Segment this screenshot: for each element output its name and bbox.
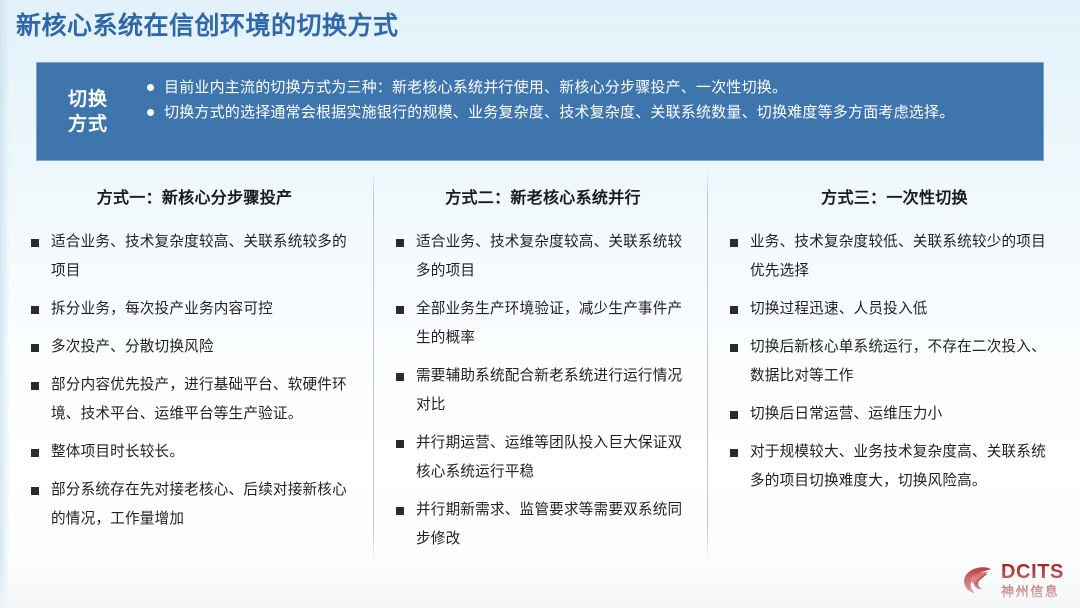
list-item-text: 切换后日常运营、运维压力小 — [750, 406, 942, 422]
callout-item: 切换方式的选择通常会根据实施银行的规模、业务复杂度、技术复杂度、关联系统数量、切… — [145, 100, 1029, 125]
column-method-one: 方式一：新核心分步骤投产 适合业务、技术复杂度较高、关联系统较多的项目 拆分业务… — [0, 172, 373, 564]
bullet-square-icon — [31, 306, 39, 314]
bullet-list: 适合业务、技术复杂度较高、关联系统较多的项目 拆分业务，每次投产业务内容可控 多… — [30, 228, 351, 534]
logo-text-en: DCITS — [1001, 562, 1064, 582]
bullet-square-icon — [396, 306, 404, 314]
slide-root: 新核心系统在信创环境的切换方式 切换 方式 目前业内主流的切换方式为三种：新老核… — [0, 0, 1080, 608]
column-method-two: 方式二：新老核心系统并行 适合业务、技术复杂度较高、关联系统较多的项目 全部业务… — [373, 172, 707, 564]
callout-item-text: 切换方式的选择通常会根据实施银行的规模、业务复杂度、技术复杂度、关联系统数量、切… — [164, 104, 954, 121]
bullet-square-icon — [31, 239, 39, 247]
callout-body: 目前业内主流的切换方式为三种：新老核心系统并行使用、新核心分步骤投产、一次性切换… — [139, 63, 1043, 160]
list-item-text: 拆分业务，每次投产业务内容可控 — [51, 301, 273, 317]
list-item-text: 整体项目时长较长。 — [51, 444, 184, 460]
list-item-text: 部分系统存在先对接老核心、后续对接新核心的情况，工作量增加 — [51, 482, 347, 527]
bullet-square-icon — [730, 411, 738, 419]
bullet-square-icon — [730, 239, 738, 247]
callout-banner: 切换 方式 目前业内主流的切换方式为三种：新老核心系统并行使用、新核心分步骤投产… — [36, 62, 1044, 161]
list-item-text: 全部业务生产环境验证，减少生产事件产生的概率 — [416, 301, 682, 346]
bullet-square-icon — [31, 382, 39, 390]
bullet-square-icon — [396, 373, 404, 381]
list-item: 多次投产、分散切换风险 — [30, 333, 351, 362]
callout-label-line2: 方式 — [68, 112, 108, 137]
list-item: 适合业务、技术复杂度较高、关联系统较多的项目 — [30, 228, 351, 286]
list-item: 切换后新核心单系统运行，不存在二次投入、数据比对等工作 — [729, 333, 1056, 391]
dcits-swoosh-icon — [961, 563, 995, 597]
list-item-text: 对于规模较大、业务技术复杂度高、关联系统多的项目切换难度大，切换风险高。 — [750, 444, 1046, 489]
list-item-text: 适合业务、技术复杂度较高、关联系统较多的项目 — [51, 234, 347, 279]
bullet-list: 适合业务、技术复杂度较高、关联系统较多的项目 全部业务生产环境验证，减少生产事件… — [395, 228, 691, 554]
comparison-columns: 方式一：新核心分步骤投产 适合业务、技术复杂度较高、关联系统较多的项目 拆分业务… — [0, 172, 1080, 564]
list-item-text: 并行期运营、运维等团队投入巨大保证双核心系统运行平稳 — [416, 435, 682, 480]
bullet-dot-icon — [147, 84, 154, 91]
list-item: 业务、技术复杂度较低、关联系统较少的项目优先选择 — [729, 228, 1056, 286]
bullet-square-icon — [730, 344, 738, 352]
list-item: 部分内容优先投产，进行基础平台、软硬件环境、技术平台、运维平台等生产验证。 — [30, 371, 351, 429]
list-item-text: 切换后新核心单系统运行，不存在二次投入、数据比对等工作 — [750, 339, 1046, 384]
list-item-text: 业务、技术复杂度较低、关联系统较少的项目优先选择 — [750, 234, 1046, 279]
logo-text-cn: 神州信息 — [1001, 585, 1064, 598]
logo-text: DCITS 神州信息 — [1001, 562, 1064, 598]
list-item: 全部业务生产环境验证，减少生产事件产生的概率 — [395, 295, 691, 353]
list-item-text: 并行期新需求、监管要求等需要双系统同步修改 — [416, 502, 682, 547]
bullet-square-icon — [730, 449, 738, 457]
list-item: 对于规模较大、业务技术复杂度高、关联系统多的项目切换难度大，切换风险高。 — [729, 438, 1056, 496]
list-item: 部分系统存在先对接老核心、后续对接新核心的情况，工作量增加 — [30, 476, 351, 534]
column-heading: 方式二：新老核心系统并行 — [395, 172, 691, 210]
bullet-square-icon — [396, 239, 404, 247]
list-item: 并行期新需求、监管要求等需要双系统同步修改 — [395, 496, 691, 554]
list-item-text: 多次投产、分散切换风险 — [51, 339, 214, 355]
callout-label: 切换 方式 — [37, 63, 139, 160]
list-item: 整体项目时长较长。 — [30, 438, 351, 467]
list-item: 拆分业务，每次投产业务内容可控 — [30, 295, 351, 324]
bullet-square-icon — [396, 440, 404, 448]
company-logo: DCITS 神州信息 — [961, 562, 1064, 598]
list-item: 切换过程迅速、人员投入低 — [729, 295, 1056, 324]
bullet-list: 业务、技术复杂度较低、关联系统较少的项目优先选择 切换过程迅速、人员投入低 切换… — [729, 228, 1056, 496]
list-item: 适合业务、技术复杂度较高、关联系统较多的项目 — [395, 228, 691, 286]
column-method-three: 方式三：一次性切换 业务、技术复杂度较低、关联系统较少的项目优先选择 切换过程迅… — [707, 172, 1080, 564]
bullet-square-icon — [730, 306, 738, 314]
bullet-square-icon — [396, 507, 404, 515]
column-heading: 方式一：新核心分步骤投产 — [30, 172, 351, 210]
list-item: 需要辅助系统配合新老系统进行运行情况对比 — [395, 362, 691, 420]
callout-item: 目前业内主流的切换方式为三种：新老核心系统并行使用、新核心分步骤投产、一次性切换… — [145, 75, 1029, 100]
bullet-square-icon — [31, 449, 39, 457]
bullet-dot-icon — [147, 109, 154, 116]
bullet-square-icon — [31, 344, 39, 352]
callout-label-line1: 切换 — [68, 87, 108, 112]
list-item-text: 部分内容优先投产，进行基础平台、软硬件环境、技术平台、运维平台等生产验证。 — [51, 377, 347, 422]
list-item: 并行期运营、运维等团队投入巨大保证双核心系统运行平稳 — [395, 429, 691, 487]
column-heading: 方式三：一次性切换 — [729, 172, 1056, 210]
list-item-text: 切换过程迅速、人员投入低 — [750, 301, 928, 317]
callout-item-text: 目前业内主流的切换方式为三种：新老核心系统并行使用、新核心分步骤投产、一次性切换… — [164, 79, 787, 96]
page-title: 新核心系统在信创环境的切换方式 — [16, 8, 399, 44]
list-item-text: 适合业务、技术复杂度较高、关联系统较多的项目 — [416, 234, 682, 279]
bullet-square-icon — [31, 487, 39, 495]
list-item: 切换后日常运营、运维压力小 — [729, 400, 1056, 429]
list-item-text: 需要辅助系统配合新老系统进行运行情况对比 — [416, 368, 682, 413]
